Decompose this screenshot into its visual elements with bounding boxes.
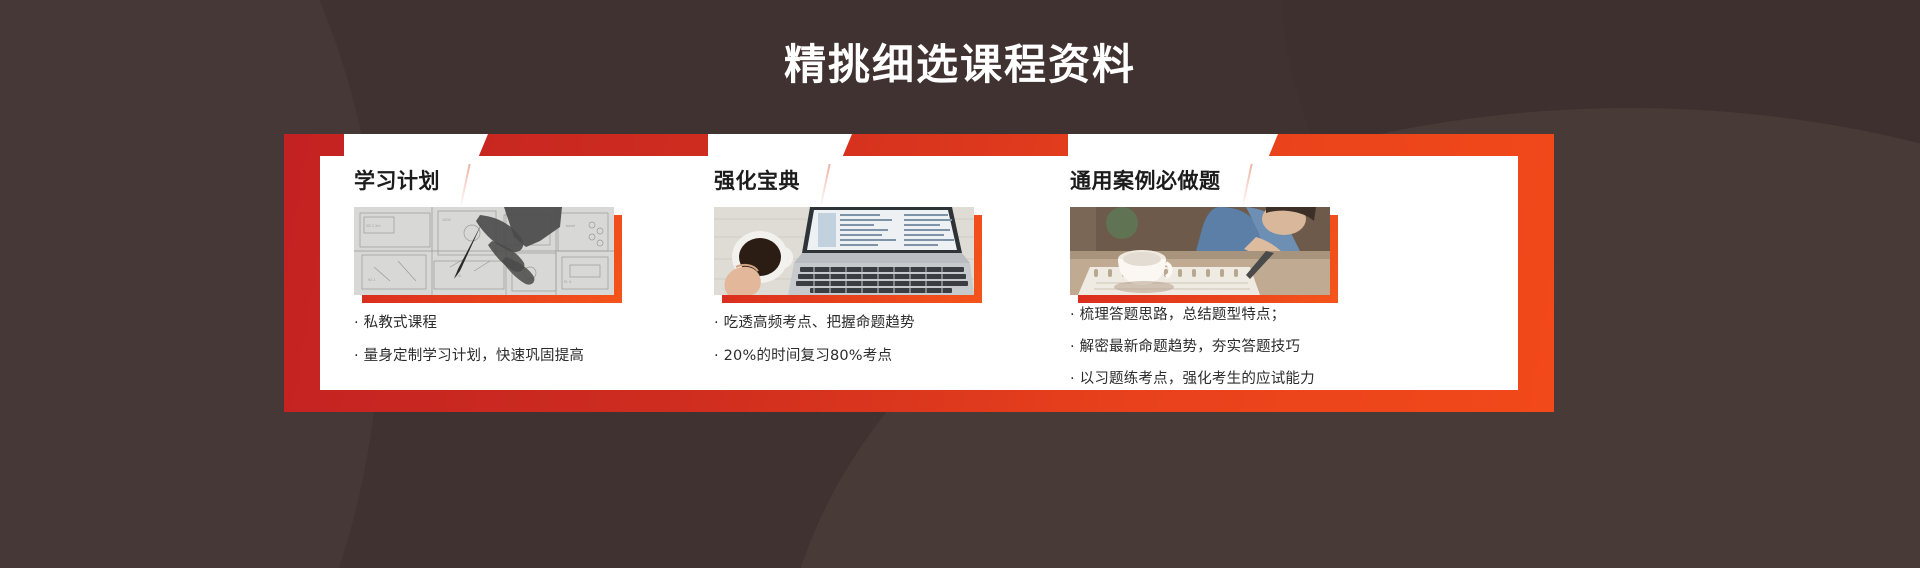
card-title: 通用案例必做题 [1070, 156, 1400, 193]
page-title: 精挑细选课程资料 [0, 40, 1920, 90]
title-tabs-layer [320, 134, 1518, 158]
list-item: · 解密最新命题趋势，夯实答题技巧 [1070, 337, 1400, 359]
cards-row: 学习计划 [320, 156, 1518, 390]
card-image-wrap [714, 207, 974, 295]
svg-text:PL 4: PL 4 [564, 280, 571, 284]
title-tab-3 [1068, 134, 1268, 158]
card-bullet-list: · 吃透高频考点、把握命题趋势 · 20%的时间复习80%考点 [714, 313, 1044, 368]
card-intensive-guide[interactable]: 强化宝典 [714, 156, 1044, 390]
svg-text:SD 1.2m: SD 1.2m [366, 224, 381, 228]
svg-text:92.1: 92.1 [368, 278, 376, 282]
card-title: 强化宝典 [714, 156, 1044, 193]
list-item: · 量身定制学习计划，快速巩固提高 [354, 346, 684, 368]
card-bullet-list: · 私教式课程 · 量身定制学习计划，快速巩固提高 [354, 313, 684, 368]
card-study-plan[interactable]: 学习计划 [354, 156, 684, 390]
blueprint-hand-photo: SD 1.2m 1000 25 4.8 basel SOS 92.1 PL 4 [354, 207, 614, 295]
title-tab-1 [344, 134, 478, 158]
list-item: · 以习题练考点，强化考生的应试能力 [1070, 369, 1400, 391]
list-item: · 20%的时间复习80%考点 [714, 346, 1044, 368]
svg-text:basel: basel [566, 224, 575, 228]
card-bullet-list: · 梳理答题思路，总结题型特点； · 解密最新命题趋势，夯实答题技巧 · 以习题… [1070, 305, 1400, 390]
title-tab-2 [708, 134, 842, 158]
card-image-wrap: SD 1.2m 1000 25 4.8 basel SOS 92.1 PL 4 [354, 207, 614, 295]
list-item: · 吃透高频考点、把握命题趋势 [714, 313, 1044, 335]
list-item: · 梳理答题思路，总结题型特点； [1070, 305, 1400, 327]
card-case-exercises[interactable]: 通用案例必做题 [1070, 156, 1400, 390]
list-item: · 私教式课程 [354, 313, 684, 335]
card-image-wrap [1070, 207, 1330, 295]
card-title: 学习计划 [354, 156, 684, 193]
student-writing-photo [1070, 207, 1330, 295]
laptop-coffee-photo [714, 207, 974, 295]
svg-text:1000: 1000 [442, 218, 451, 222]
content-panel: 学习计划 [284, 134, 1554, 412]
